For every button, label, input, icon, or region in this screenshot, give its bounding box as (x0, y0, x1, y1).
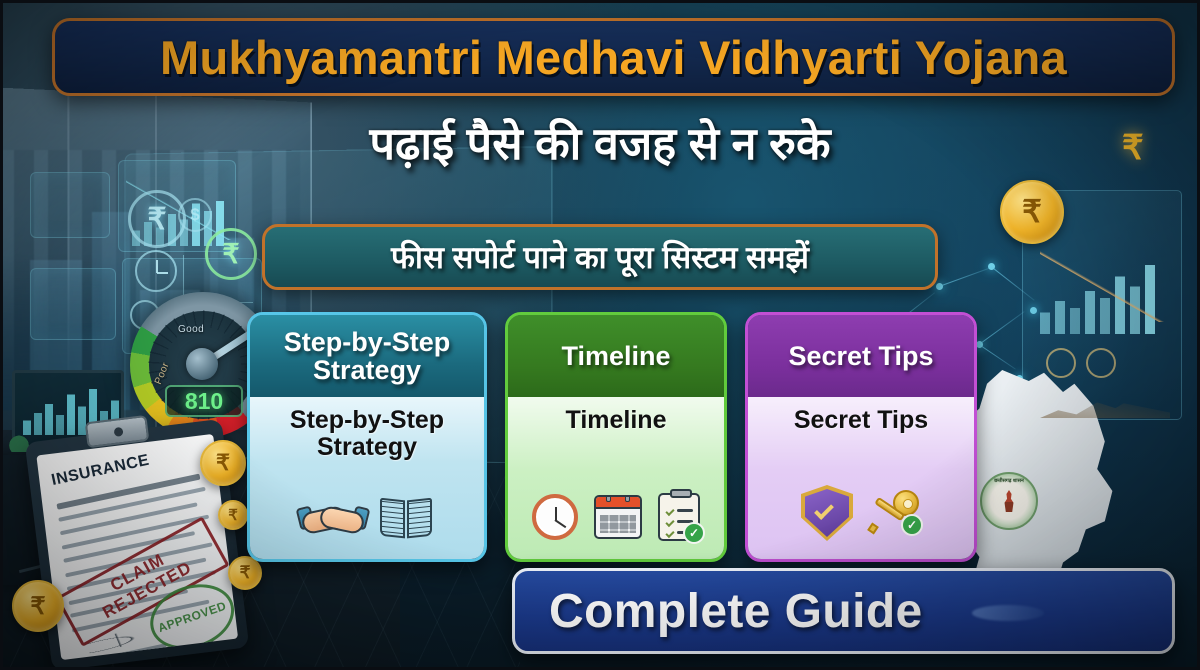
gauge-label-good: Good (178, 324, 204, 335)
calendar-ring (606, 495, 611, 502)
document-title: INSURANCE (50, 452, 151, 490)
book-page (380, 498, 405, 539)
card-header: Step-by-Step Strategy (250, 315, 484, 397)
card-step-by-step-strategy[interactable]: Step-by-Step Strategy Step-by-Step Strat… (247, 312, 487, 562)
card-timeline[interactable]: Timeline Timeline (505, 312, 727, 562)
clipboard-clip (670, 489, 692, 498)
rupee-hud-icon: ₹ (128, 190, 186, 248)
page-title: Mukhyamantri Medhavi Vidhyarti Yojana (160, 30, 1067, 85)
dashboard-trend-line (1040, 250, 1166, 322)
rupee-coin: ₹ (200, 440, 246, 486)
calendar-ring (625, 495, 630, 502)
mesh-link (979, 344, 1016, 369)
check-tick (665, 507, 674, 516)
card-body-label: Timeline (566, 407, 667, 434)
card-header: Secret Tips (748, 315, 974, 397)
poster-canvas: ₹ $ ₹ Good Poor Fair 810 INSURANCE CLAIM… (0, 0, 1200, 670)
clipboard-line (677, 509, 693, 512)
clock-hud-icon (135, 250, 177, 292)
card-body: Timeline (508, 397, 724, 559)
dashboard-dial (1046, 348, 1076, 378)
check-tick (665, 518, 674, 527)
hud-panel (30, 172, 110, 238)
mesh-link (939, 267, 992, 287)
book-page (407, 498, 432, 539)
banner-highlight (972, 605, 1044, 621)
mesh-link (979, 311, 1025, 345)
card-header-label: Secret Tips (788, 342, 933, 370)
clock-icon (532, 494, 578, 540)
subtitle-text: फीस सपोर्ट पाने का पूरा सिस्टम समझें (391, 236, 809, 278)
subtitle-banner: फीस सपोर्ट पाने का पूरा सिस्टम समझें (262, 224, 938, 290)
green-check-badge: ✓ (683, 522, 705, 544)
state-government-emblem: छत्तीसगढ़ शासन (980, 472, 1038, 530)
card-icon-row (302, 497, 432, 541)
card-secret-tips[interactable]: Secret Tips Secret Tips ✓ (745, 312, 977, 562)
clipboard-check-icon: ✓ (658, 493, 700, 541)
rupee-coin: ₹ (218, 500, 248, 530)
green-check-badge: ✓ (901, 514, 923, 536)
handshake-icon (302, 497, 364, 541)
key-icon: ✓ (869, 490, 921, 536)
complete-guide-banner[interactable]: Complete Guide (512, 568, 1175, 654)
card-body: Step-by-Step Strategy (250, 397, 484, 559)
rupee-hud-icon-green: ₹ (205, 228, 257, 280)
gauge-score-readout: 810 (165, 385, 243, 417)
card-body: Secret Tips ✓ (748, 397, 974, 559)
complete-guide-label: Complete Guide (549, 584, 923, 639)
feature-cards: Step-by-Step Strategy Step-by-Step Strat… (247, 312, 977, 562)
calendar-header (596, 497, 640, 509)
title-banner: Mukhyamantri Medhavi Vidhyarti Yojana (52, 18, 1175, 96)
check-tick (665, 529, 674, 538)
hindi-headline: पढ़ाई पैसे की वजह से न रुके (0, 112, 1200, 173)
dashboard-dial (1086, 348, 1116, 378)
dollar-hud-icon: $ (178, 198, 212, 232)
card-header: Timeline (508, 315, 724, 397)
card-body-label: Step-by-Step Strategy (250, 407, 484, 461)
open-book-icon (380, 497, 432, 541)
card-icon-row: ✓ (801, 485, 921, 541)
gauge-hub (186, 348, 218, 380)
card-header-label: Step-by-Step Strategy (258, 328, 476, 385)
card-body-label: Secret Tips (794, 407, 928, 434)
rupee-coin: ₹ (1000, 180, 1064, 244)
emblem-caption: छत्तीसगढ़ शासन (982, 478, 1036, 484)
card-header-label: Timeline (561, 342, 670, 370)
hud-panel (30, 268, 116, 340)
calendar-grid (600, 515, 636, 533)
shield-check-icon (801, 485, 853, 541)
rupee-coin: ₹ (12, 580, 64, 632)
calendar-icon (594, 495, 642, 539)
card-icon-row: ✓ (532, 493, 700, 541)
key-tooth (867, 523, 879, 535)
